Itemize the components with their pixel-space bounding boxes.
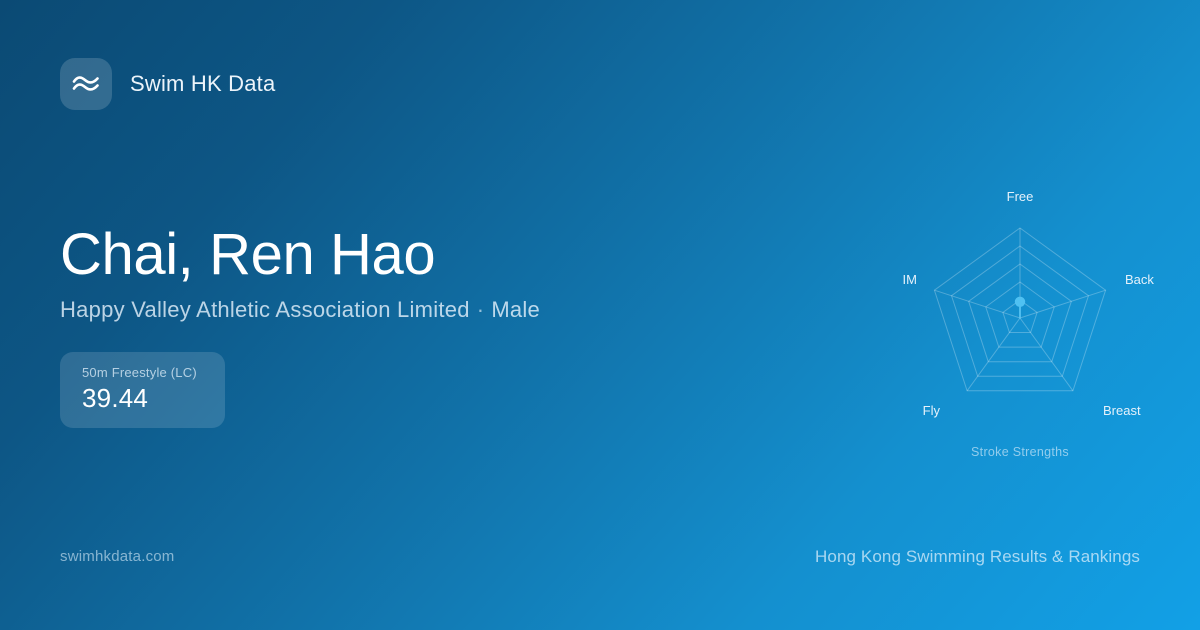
radar-axis-label-back: Back: [1125, 272, 1154, 287]
radar-axis-label-breast: Breast: [1103, 403, 1141, 418]
stat-card: 50m Freestyle (LC) 39.44: [60, 352, 225, 428]
footer-tagline: Hong Kong Swimming Results & Rankings: [815, 547, 1140, 567]
radar-caption: Stroke Strengths: [971, 445, 1069, 459]
radar-spoke: [1020, 318, 1073, 391]
radar-data-point: [1015, 297, 1025, 307]
share-card: Swim HK Data Chai, Ren Hao Happy Valley …: [0, 0, 1200, 630]
stat-card-label: 50m Freestyle (LC): [82, 365, 225, 380]
radar-spoke: [1020, 290, 1106, 318]
radar-spoke: [934, 290, 1020, 318]
brand-name: Swim HK Data: [130, 71, 275, 97]
athlete-meta: Happy Valley Athletic Association Limite…: [60, 297, 540, 323]
stat-card-value: 39.44: [82, 383, 225, 414]
brand-logo: Swim HK Data: [60, 58, 275, 110]
athlete-club: Happy Valley Athletic Association Limite…: [60, 297, 470, 322]
radar-axis-label-free: Free: [1007, 189, 1034, 204]
radar-axis-label-im: IM: [903, 272, 917, 287]
radar-data-points: [1015, 297, 1025, 307]
wave-icon: [60, 58, 112, 110]
radar-spoke: [967, 318, 1020, 391]
stroke-strengths-radar-chart: Free Back Breast Fly IM Stroke Strengths: [860, 170, 1180, 470]
athlete-gender: Male: [491, 297, 540, 322]
radar-axis-label-fly: Fly: [923, 403, 941, 418]
meta-separator: ·: [470, 297, 492, 322]
page-title: Chai, Ren Hao: [60, 224, 435, 286]
footer-site-url: swimhkdata.com: [60, 548, 175, 565]
